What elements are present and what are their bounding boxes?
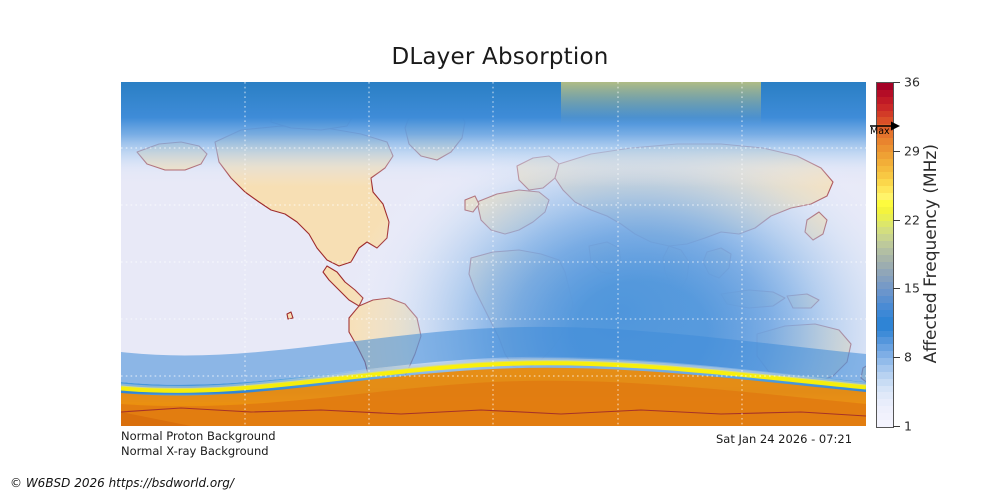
colorbar-segment <box>877 406 893 413</box>
colorbar-segment <box>877 104 893 111</box>
colorbar-tick-label: 29 <box>904 143 920 158</box>
colorbar-segment <box>877 193 893 200</box>
colorbar-segment <box>877 317 893 324</box>
colorbar-segment <box>877 276 893 283</box>
colorbar-segment <box>877 324 893 331</box>
proton-status: Normal Proton Background <box>121 429 276 444</box>
colorbar-segment <box>877 413 893 420</box>
colorbar-segment <box>877 351 893 358</box>
colorbar-segment <box>877 234 893 241</box>
colorbar-tick-label: 36 <box>904 75 920 90</box>
world-basemap <box>121 82 866 426</box>
colorbar-tick <box>893 288 900 289</box>
colorbar-segment <box>877 248 893 255</box>
colorbar-segment <box>877 138 893 145</box>
page-title: DLayer Absorption <box>0 44 1000 70</box>
colorbar-segment <box>877 379 893 386</box>
colorbar-segment <box>877 227 893 234</box>
colorbar-segment <box>877 200 893 207</box>
colorbar-segment <box>877 172 893 179</box>
colorbar-segment <box>877 399 893 406</box>
colorbar-axis-label: Affected Frequency (MHz) <box>921 82 941 426</box>
timestamp: Sat Jan 24 2026 - 07:21 <box>716 432 852 446</box>
colorbar-segment <box>877 269 893 276</box>
colorbar-segment <box>877 344 893 351</box>
colorbar-segment <box>877 111 893 118</box>
colorbar-segment <box>877 303 893 310</box>
colorbar-segment <box>877 372 893 379</box>
colorbar-tick <box>893 426 900 427</box>
colorbar-segment <box>877 186 893 193</box>
colorbar-tick-label: 15 <box>904 281 920 296</box>
colorbar-segment <box>877 152 893 159</box>
colorbar-segment <box>877 83 893 90</box>
colorbar-segment <box>877 337 893 344</box>
status-notes: Normal Proton Background Normal X-ray Ba… <box>121 429 276 459</box>
colorbar-segment <box>877 145 893 152</box>
colorbar-tick-label: 1 <box>904 419 912 434</box>
colorbar-segment <box>877 221 893 228</box>
colorbar-segment <box>877 262 893 269</box>
colorbar-segment <box>877 365 893 372</box>
colorbar-segment <box>877 331 893 338</box>
colorbar-segment <box>877 386 893 393</box>
max-marker-label: Max <box>870 126 890 137</box>
colorbar-segment <box>877 207 893 214</box>
colorbar-segment <box>877 179 893 186</box>
colorbar-segment <box>877 282 893 289</box>
colorbar-segment <box>877 97 893 104</box>
colorbar-tick-label: 22 <box>904 212 920 227</box>
colorbar-tick <box>893 220 900 221</box>
colorbar-segment <box>877 289 893 296</box>
colorbar-segment <box>877 358 893 365</box>
colorbar-segment <box>877 392 893 399</box>
colorbar-max-marker: Max <box>869 120 901 138</box>
colorbar-segment <box>877 255 893 262</box>
colorbar-segment <box>877 214 893 221</box>
colorbar-segment <box>877 310 893 317</box>
colorbar-segment <box>877 296 893 303</box>
colorbar-tick <box>893 82 900 83</box>
colorbar-tick <box>893 357 900 358</box>
colorbar-tick <box>893 151 900 152</box>
colorbar-segment <box>877 166 893 173</box>
copyright-notice: © W6BSD 2026 https://bsdworld.org/ <box>10 476 234 490</box>
colorbar-segment <box>877 241 893 248</box>
colorbar-segment <box>877 90 893 97</box>
colorbar-segment <box>877 420 893 427</box>
colorbar-segment <box>877 159 893 166</box>
xray-status: Normal X-ray Background <box>121 444 276 459</box>
colorbar-tick-label: 8 <box>904 350 912 365</box>
app-root: DLayer Absorption <box>0 0 1000 500</box>
absorption-map[interactable] <box>121 82 866 426</box>
